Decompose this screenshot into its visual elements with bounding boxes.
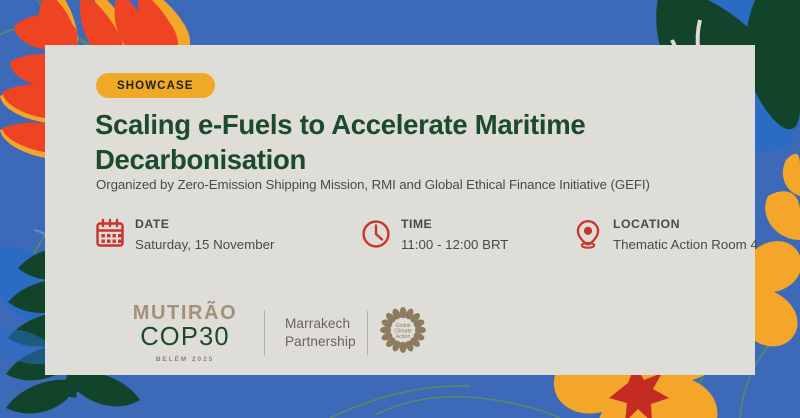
status-badge: SHOWCASE (96, 73, 215, 98)
meta-label-location: LOCATION (613, 217, 680, 231)
meta-label-date: DATE (135, 217, 169, 231)
marrakech-line-1: Marrakech (285, 316, 350, 331)
emblem-line-3: Action (395, 334, 410, 340)
meta-value-time: 11:00 - 12:00 BRT (401, 237, 508, 252)
meta-item-time: TIME 11:00 - 12:00 BRT (361, 213, 508, 255)
event-meta-row: DATE Saturday, 15 November TIME 11:00 - … (95, 213, 745, 257)
title-line-1: Scaling e-Fuels to Accelerate Maritime (95, 108, 715, 143)
logo-divider (264, 310, 265, 356)
meta-value-location: Thematic Action Room 4 (613, 237, 758, 252)
cop30-logo: MUTIRÃO COP30 BELÉM 2025 (120, 303, 250, 363)
cop30-wordmark: COP30 (120, 323, 250, 353)
meta-label-time: TIME (401, 217, 432, 231)
marrakech-divider (367, 311, 368, 355)
map-pin-icon (573, 218, 603, 250)
belem-wordmark: BELÉM 2025 (120, 356, 250, 363)
clock-icon (361, 218, 391, 250)
meta-item-date: DATE Saturday, 15 November (95, 213, 274, 255)
logo-strip: MUTIRÃO COP30 BELÉM 2025 Marrakech Partn… (120, 303, 427, 363)
marrakech-partnership-logo: Marrakech Partnership (285, 306, 427, 359)
meta-value-date: Saturday, 15 November (135, 237, 274, 252)
mutirao-wordmark: MUTIRÃO (120, 303, 250, 323)
event-card: SHOWCASE Scaling e-Fuels to Accelerate M… (45, 45, 755, 375)
organizer-text: Organized by Zero-Emission Shipping Miss… (96, 177, 746, 192)
title-line-2: Decarbonisation (95, 143, 715, 178)
marrakech-line-2: Partnership (285, 334, 356, 349)
page-title: Scaling e-Fuels to Accelerate Maritime D… (95, 108, 715, 177)
global-climate-action-emblem: Global Climate Action (379, 306, 427, 359)
event-banner: SHOWCASE Scaling e-Fuels to Accelerate M… (0, 0, 800, 418)
calendar-icon (95, 218, 125, 250)
meta-item-location: LOCATION Thematic Action Room 4 (573, 213, 758, 255)
